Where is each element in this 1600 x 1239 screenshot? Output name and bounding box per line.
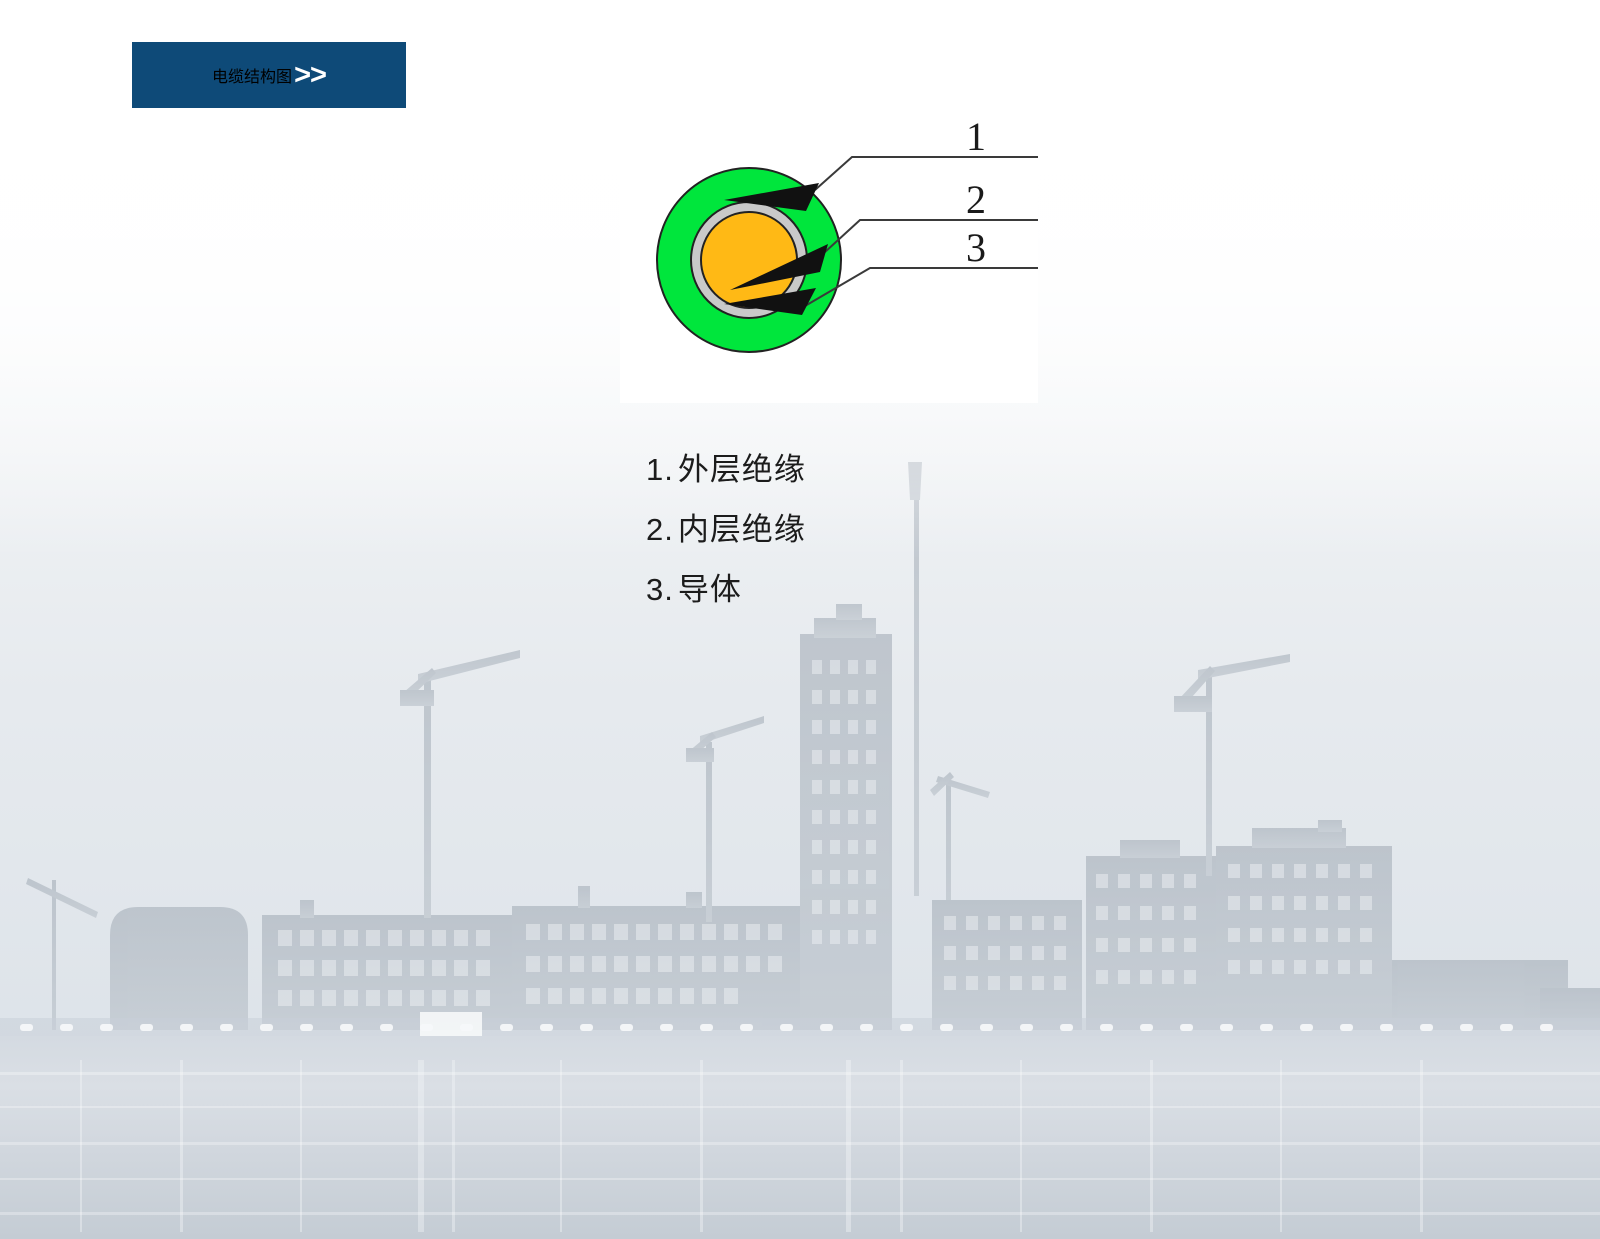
callout-number-3: 3 <box>966 225 986 270</box>
chevron-right-icon: >> <box>294 59 326 92</box>
legend-item-1: 1. 外层绝缘 <box>646 444 806 504</box>
legend-index-1: 1. <box>646 452 674 488</box>
callout-number-2: 2 <box>966 177 986 222</box>
legend-label-3: 导体 <box>678 564 742 609</box>
legend-item-2: 2. 内层绝缘 <box>646 504 806 564</box>
cable-structure-diagram: 1 2 3 <box>620 110 1038 403</box>
legend-label-1: 外层绝缘 <box>678 444 806 489</box>
legend-label-2: 内层绝缘 <box>678 504 806 549</box>
callout-number-1: 1 <box>966 114 986 159</box>
legend-index-2: 2. <box>646 512 674 548</box>
conductor-core <box>701 212 797 308</box>
legend-item-3: 3. 导体 <box>646 564 806 624</box>
legend-index-3: 3. <box>646 572 674 608</box>
page-root: 电缆结构图 >> <box>0 0 1600 1239</box>
badge-title-label: 电缆结构图 <box>212 63 292 87</box>
section-title-badge[interactable]: 电缆结构图 >> <box>132 42 406 108</box>
legend-list: 1. 外层绝缘 2. 内层绝缘 3. 导体 <box>646 444 806 624</box>
